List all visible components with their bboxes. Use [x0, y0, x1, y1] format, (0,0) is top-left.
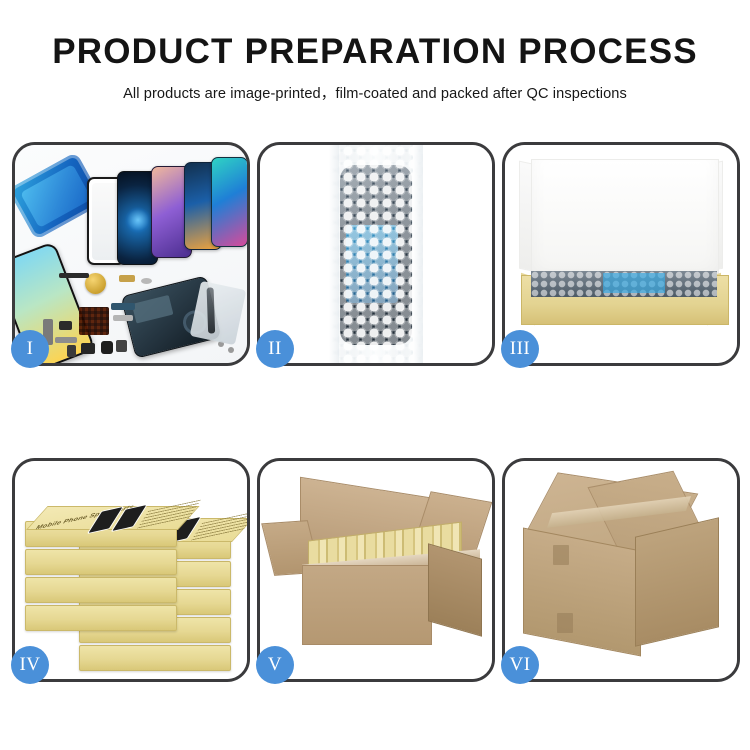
wrapped-screens-in-box-icon — [531, 271, 717, 297]
carton-tab-lower — [557, 613, 573, 633]
carton-side-face — [428, 543, 482, 636]
page-subtitle: All products are image-printed，film-coat… — [0, 82, 750, 103]
retail-box — [25, 577, 177, 603]
process-step-4: Mobile Phone Spare Parts Mobile Phone Sp… — [12, 458, 250, 682]
step-2-image — [260, 145, 492, 363]
page-title: PRODUCT PREPARATION PROCESS — [0, 34, 750, 71]
camera-lens-icon — [141, 278, 152, 284]
retail-box-lid: Mobile Phone Spare Parts — [26, 506, 200, 530]
step-5-image — [260, 461, 492, 679]
gold-connector-icon — [119, 275, 135, 282]
carton-tab-upper — [553, 545, 569, 565]
sealed-carton-front-face — [523, 528, 641, 657]
screw-icon — [228, 347, 234, 353]
process-step-2: II — [257, 142, 495, 366]
retail-box — [79, 645, 231, 671]
process-step-5: V — [257, 458, 495, 682]
battery-connector-icon — [101, 341, 113, 354]
antenna-strip-icon — [113, 315, 133, 321]
retail-box — [25, 605, 177, 631]
process-step-3: III — [502, 142, 740, 366]
vibration-motor-icon — [81, 343, 95, 354]
retail-box-labeled: Mobile Phone Spare Parts — [25, 521, 177, 547]
bubble-texture-overlay-icon — [329, 145, 423, 363]
step-4-image: Mobile Phone Spare Parts Mobile Phone Sp… — [15, 461, 247, 679]
header: PRODUCT PREPARATION PROCESS All products… — [0, 0, 750, 103]
step-badge-6: VI — [501, 646, 539, 684]
carton-front-face — [302, 565, 432, 645]
step-3-image — [505, 145, 737, 363]
process-step-grid: I II III — [12, 142, 738, 682]
process-step-6: VI — [502, 458, 740, 682]
sim-tray-icon — [67, 345, 76, 357]
flex-cable-icon — [59, 273, 89, 278]
product-preparation-infographic: PRODUCT PREPARATION PROCESS All products… — [0, 0, 750, 750]
shield-can-icon — [116, 340, 127, 352]
step-badge-5: V — [256, 646, 294, 684]
phone-screen-teal-icon — [211, 157, 247, 247]
box-lid-panel — [531, 159, 719, 285]
small-chip-icon — [59, 321, 72, 330]
metal-bracket-icon — [55, 337, 77, 343]
wrap-edge-left — [329, 145, 339, 363]
step-1-image — [15, 145, 247, 363]
ribbon-cable-icon — [111, 303, 135, 310]
wrap-edge-right — [413, 145, 423, 363]
step-badge-1: I — [11, 330, 49, 368]
step-badge-2: II — [256, 330, 294, 368]
chip-array-icon — [79, 307, 109, 335]
sealed-carton-side-face — [635, 517, 719, 646]
process-step-1: I — [12, 142, 250, 366]
step-badge-3: III — [501, 330, 539, 368]
step-6-image — [505, 461, 737, 679]
phone-display-fan — [87, 157, 237, 269]
repair-tool-icon — [190, 281, 247, 345]
step-badge-4: IV — [11, 646, 49, 684]
retail-box-stack: Mobile Phone Spare Parts Mobile Phone Sp… — [19, 473, 247, 679]
retail-box — [25, 549, 177, 575]
